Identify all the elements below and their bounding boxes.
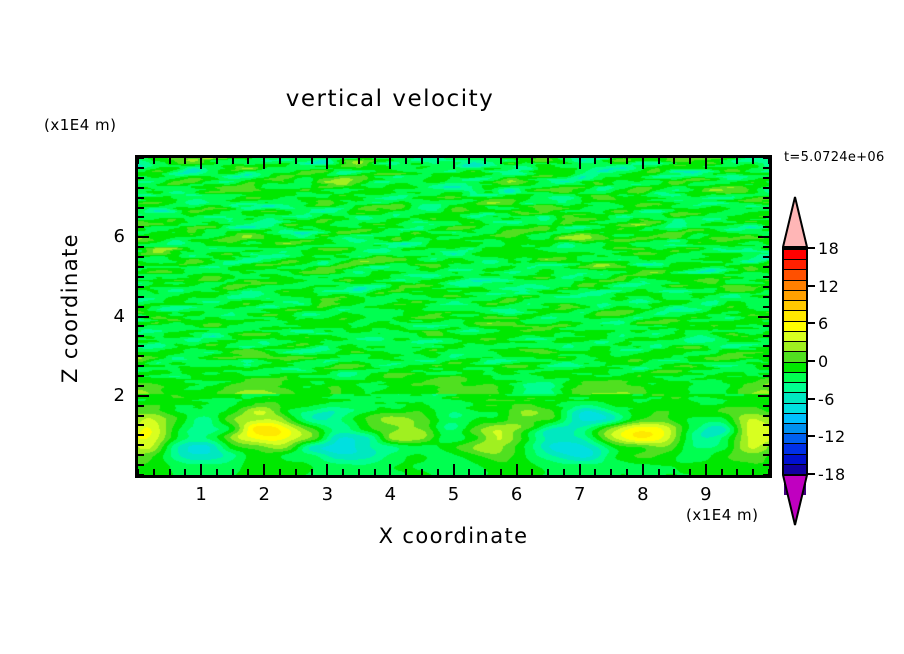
z-tick xyxy=(138,236,149,238)
x-tick-top xyxy=(279,158,281,164)
colorbar-band xyxy=(784,404,806,414)
x-tick-top xyxy=(658,158,660,164)
x-tick-top xyxy=(405,158,407,164)
x-tick xyxy=(547,469,549,475)
z-tick-right xyxy=(763,355,769,357)
x-tick xyxy=(326,464,328,475)
x-tick-top xyxy=(169,158,171,164)
x-tick-top xyxy=(579,158,581,169)
x-tick xyxy=(516,464,518,475)
x-tick-top xyxy=(516,158,518,169)
colorbar-band xyxy=(784,301,806,311)
x-tick xyxy=(642,464,644,475)
z-tick-right xyxy=(763,157,769,159)
x-axis-unit-label: (x1E4 m) xyxy=(686,506,759,524)
z-tick-right xyxy=(763,444,769,446)
x-tick xyxy=(610,469,612,475)
z-tick xyxy=(138,177,144,179)
time-annotation: t=5.0724e+06 xyxy=(784,150,885,165)
z-tick xyxy=(138,474,144,476)
x-tick-top xyxy=(752,158,754,164)
x-tick xyxy=(295,469,297,475)
x-tick-top xyxy=(374,158,376,164)
z-tick-right xyxy=(763,167,769,169)
x-tick xyxy=(421,469,423,475)
colorbar-tick-label: -12 xyxy=(818,427,846,446)
colorbar-over-arrow xyxy=(782,196,808,248)
z-tick-right xyxy=(763,276,769,278)
x-tick-top xyxy=(153,158,155,164)
colorbar-band xyxy=(784,352,806,362)
x-tick-top xyxy=(531,158,533,164)
colorbar: 181260-6-12-18 xyxy=(778,196,898,526)
z-tick-right xyxy=(763,296,769,298)
x-tick xyxy=(437,469,439,475)
colorbar-tick xyxy=(808,360,815,362)
z-tick xyxy=(138,276,144,278)
z-tick-right xyxy=(758,236,769,238)
x-tick-label: 7 xyxy=(565,484,595,505)
x-tick-top xyxy=(468,158,470,164)
z-tick xyxy=(138,385,144,387)
z-tick xyxy=(138,355,144,357)
x-tick xyxy=(689,469,691,475)
colorbar-tick xyxy=(808,247,815,249)
z-tick xyxy=(138,375,144,377)
colorbar-under-arrow xyxy=(782,474,808,526)
colorbar-tick-label: -18 xyxy=(818,465,846,484)
z-tick xyxy=(138,157,144,159)
z-tick-label: 4 xyxy=(85,306,125,327)
z-tick xyxy=(138,306,144,308)
colorbar-band xyxy=(784,332,806,342)
z-tick-right xyxy=(763,177,769,179)
z-tick-right xyxy=(763,375,769,377)
x-tick-top xyxy=(594,158,596,164)
z-tick-right xyxy=(763,405,769,407)
colorbar-band xyxy=(784,311,806,321)
z-tick-right xyxy=(763,216,769,218)
z-tick xyxy=(138,256,144,258)
colorbar-band xyxy=(784,444,806,454)
colorbar-tick xyxy=(808,435,815,437)
x-tick xyxy=(752,469,754,475)
z-tick-right xyxy=(763,424,769,426)
x-tick xyxy=(216,469,218,475)
x-tick xyxy=(626,469,628,475)
x-tick-top xyxy=(437,158,439,164)
colorbar-tick-label: 0 xyxy=(818,352,829,371)
contour-plot-area xyxy=(135,155,772,478)
z-tick-right xyxy=(758,316,769,318)
x-tick-label: 3 xyxy=(312,484,342,505)
x-tick xyxy=(484,469,486,475)
page-title: vertical velocity xyxy=(0,86,780,112)
x-axis-title: X coordinate xyxy=(135,524,772,548)
x-tick xyxy=(247,469,249,475)
z-tick xyxy=(138,395,149,397)
x-tick-label: 5 xyxy=(439,484,469,505)
x-tick xyxy=(531,469,533,475)
x-tick-top xyxy=(500,158,502,164)
x-tick xyxy=(169,469,171,475)
z-tick xyxy=(138,246,144,248)
colorbar-band xyxy=(784,455,806,465)
x-tick xyxy=(263,464,265,475)
z-tick xyxy=(138,365,144,367)
x-tick xyxy=(200,464,202,475)
z-tick xyxy=(138,266,144,268)
z-tick xyxy=(138,197,144,199)
z-tick xyxy=(138,415,144,417)
z-tick-label: 2 xyxy=(85,385,125,406)
x-tick-top xyxy=(484,158,486,164)
colorbar-band xyxy=(784,434,806,444)
z-tick-right xyxy=(763,474,769,476)
z-tick-right xyxy=(763,187,769,189)
x-tick-top xyxy=(311,158,313,164)
x-tick-label: 4 xyxy=(375,484,405,505)
x-tick xyxy=(736,469,738,475)
colorbar-band xyxy=(784,363,806,373)
z-tick-right xyxy=(763,226,769,228)
z-tick xyxy=(138,345,144,347)
x-tick-top xyxy=(389,158,391,169)
colorbar-band xyxy=(784,342,806,352)
colorbar-band xyxy=(784,383,806,393)
velocity-field-heatmap xyxy=(138,158,769,475)
z-tick-right xyxy=(763,207,769,209)
z-tick-right xyxy=(763,246,769,248)
x-tick-top xyxy=(610,158,612,164)
colorbar-tick-label: 6 xyxy=(818,314,829,333)
z-tick xyxy=(138,296,144,298)
z-tick-right xyxy=(763,325,769,327)
x-tick xyxy=(279,469,281,475)
x-tick-top xyxy=(453,158,455,169)
z-tick xyxy=(138,187,144,189)
x-tick-top xyxy=(232,158,234,164)
z-tick xyxy=(138,405,144,407)
z-tick-right xyxy=(763,335,769,337)
x-tick xyxy=(705,464,707,475)
z-tick-right xyxy=(763,365,769,367)
x-tick-top xyxy=(263,158,265,169)
x-tick-top xyxy=(247,158,249,164)
z-tick-right xyxy=(763,256,769,258)
x-tick-label: 9 xyxy=(691,484,721,505)
z-tick xyxy=(138,444,144,446)
z-tick xyxy=(138,434,144,436)
colorbar-tick-label: 18 xyxy=(818,239,839,258)
x-tick-label: 8 xyxy=(628,484,658,505)
z-axis-unit-label: (x1E4 m) xyxy=(44,116,117,134)
colorbar-band xyxy=(784,373,806,383)
x-tick-top xyxy=(563,158,565,164)
x-tick xyxy=(374,469,376,475)
colorbar-band xyxy=(784,393,806,403)
x-tick xyxy=(342,469,344,475)
z-tick xyxy=(138,325,144,327)
x-tick-top xyxy=(326,158,328,169)
x-tick xyxy=(453,464,455,475)
x-tick-top xyxy=(358,158,360,164)
x-tick-top xyxy=(342,158,344,164)
x-tick-top xyxy=(642,158,644,169)
x-tick xyxy=(311,469,313,475)
x-tick-top xyxy=(421,158,423,164)
colorbar-band xyxy=(784,270,806,280)
z-tick xyxy=(138,424,144,426)
colorbar-band xyxy=(784,414,806,424)
z-tick-right xyxy=(763,266,769,268)
colorbar-tick xyxy=(808,285,815,287)
x-tick xyxy=(184,469,186,475)
x-tick xyxy=(468,469,470,475)
colorbar-tick xyxy=(808,473,815,475)
z-tick xyxy=(138,216,144,218)
colorbar-tick xyxy=(808,322,815,324)
z-tick xyxy=(138,454,144,456)
x-tick xyxy=(232,469,234,475)
z-tick xyxy=(138,316,149,318)
x-tick-label: 1 xyxy=(186,484,216,505)
x-tick-top xyxy=(673,158,675,164)
colorbar-band xyxy=(784,260,806,270)
x-tick xyxy=(721,469,723,475)
z-tick-right xyxy=(758,395,769,397)
z-tick-right xyxy=(763,415,769,417)
colorbar-band xyxy=(784,281,806,291)
colorbar-tick-label: -6 xyxy=(818,390,835,409)
x-tick xyxy=(153,469,155,475)
z-tick xyxy=(138,226,144,228)
z-tick-right xyxy=(763,306,769,308)
x-tick-top xyxy=(184,158,186,164)
x-tick xyxy=(405,469,407,475)
colorbar-band xyxy=(784,250,806,260)
z-tick-right xyxy=(763,385,769,387)
x-tick-top xyxy=(626,158,628,164)
colorbar-bands xyxy=(782,248,808,474)
z-tick-right xyxy=(763,464,769,466)
x-tick xyxy=(594,469,596,475)
colorbar-tick-label: 12 xyxy=(818,277,839,296)
x-tick xyxy=(563,469,565,475)
x-tick-top xyxy=(547,158,549,164)
colorbar-band xyxy=(784,424,806,434)
x-tick-top xyxy=(295,158,297,164)
colorbar-tick xyxy=(808,398,815,400)
x-tick-top xyxy=(689,158,691,164)
x-tick-top xyxy=(200,158,202,169)
x-tick-top xyxy=(721,158,723,164)
x-tick xyxy=(389,464,391,475)
z-tick-right xyxy=(763,286,769,288)
x-tick xyxy=(579,464,581,475)
x-tick-top xyxy=(216,158,218,164)
z-tick xyxy=(138,335,144,337)
z-tick xyxy=(138,286,144,288)
x-tick xyxy=(673,469,675,475)
z-axis-title: Z coordinate xyxy=(58,208,82,408)
x-tick xyxy=(500,469,502,475)
z-tick-right xyxy=(763,197,769,199)
z-tick-label: 6 xyxy=(85,226,125,247)
colorbar-band xyxy=(784,322,806,332)
x-tick-top xyxy=(705,158,707,169)
z-tick xyxy=(138,464,144,466)
z-tick-right xyxy=(763,434,769,436)
x-tick-label: 6 xyxy=(502,484,532,505)
x-tick xyxy=(358,469,360,475)
z-tick xyxy=(138,167,144,169)
z-tick-right xyxy=(763,454,769,456)
x-tick-top xyxy=(736,158,738,164)
x-tick-label: 2 xyxy=(249,484,279,505)
x-tick xyxy=(658,469,660,475)
z-tick xyxy=(138,207,144,209)
colorbar-band xyxy=(784,291,806,301)
z-tick-right xyxy=(763,345,769,347)
